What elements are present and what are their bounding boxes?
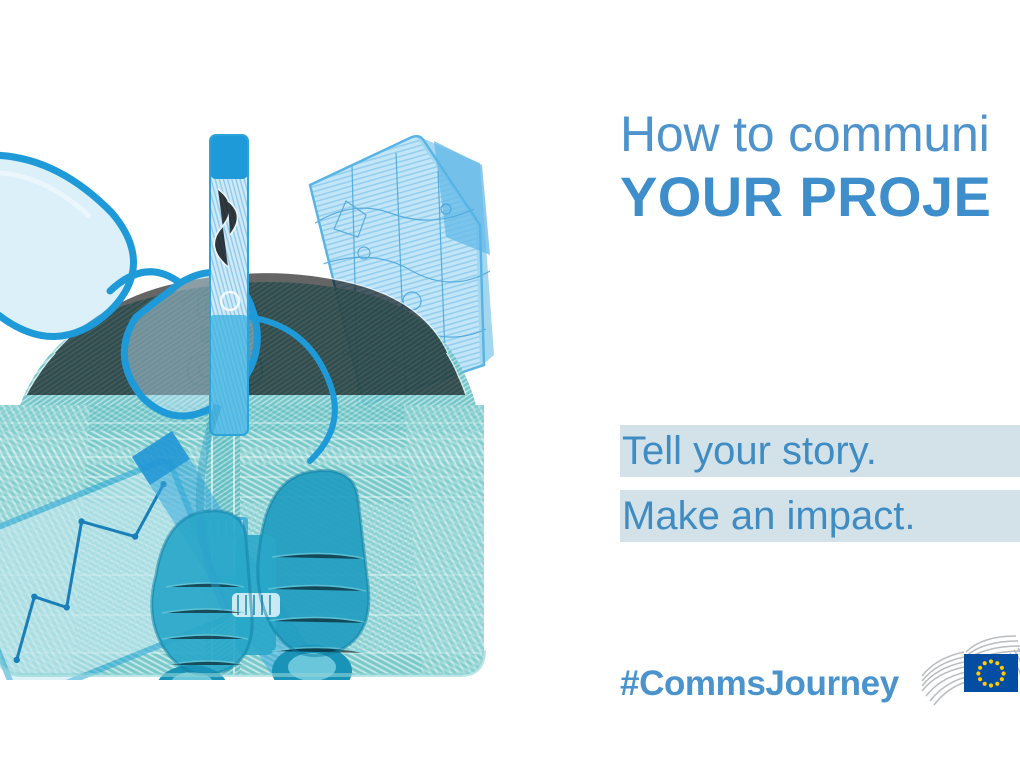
travel-suitcase-illustration <box>0 105 535 680</box>
logo-fan-left <box>922 652 966 705</box>
headline-line-2: YOUR PROJE <box>620 168 1020 227</box>
tagline-1: Tell your story. <box>620 425 1020 477</box>
eu-flag-icon <box>964 654 1018 692</box>
pen-shape <box>210 135 248 435</box>
campaign-banner: How to communi YOUR PROJE Tell your stor… <box>0 0 1020 765</box>
european-commission-logo <box>920 632 1020 718</box>
campaign-hashtag: #CommsJourney <box>620 664 899 704</box>
tagline-2: Make an impact. <box>620 490 1020 542</box>
headline-line-1: How to communi <box>620 108 1020 160</box>
taglines-block: Tell your story. Make an impact. <box>620 425 1020 542</box>
footer-row: #CommsJourney <box>620 648 1020 720</box>
headline-block: How to communi YOUR PROJE <box>620 108 1020 227</box>
text-column: How to communi YOUR PROJE Tell your stor… <box>620 0 1020 765</box>
